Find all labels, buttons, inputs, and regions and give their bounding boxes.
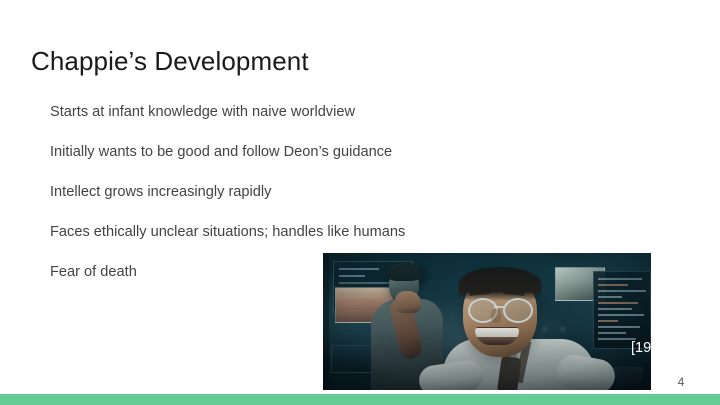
chappie-movie-still [323, 253, 651, 390]
citation-reference: [19] [631, 338, 655, 358]
page-number: 4 [670, 374, 692, 390]
presentation-slide: Chappie’s Development Starts at infant k… [0, 0, 720, 405]
list-item: Initially wants to be good and follow De… [50, 142, 570, 182]
page-title: Chappie’s Development [31, 44, 309, 78]
list-item: Intellect grows increasingly rapidly [50, 182, 570, 222]
still-color-haze [323, 253, 651, 390]
list-item: Starts at infant knowledge with naive wo… [50, 102, 570, 142]
bottom-accent-bar [0, 394, 720, 405]
